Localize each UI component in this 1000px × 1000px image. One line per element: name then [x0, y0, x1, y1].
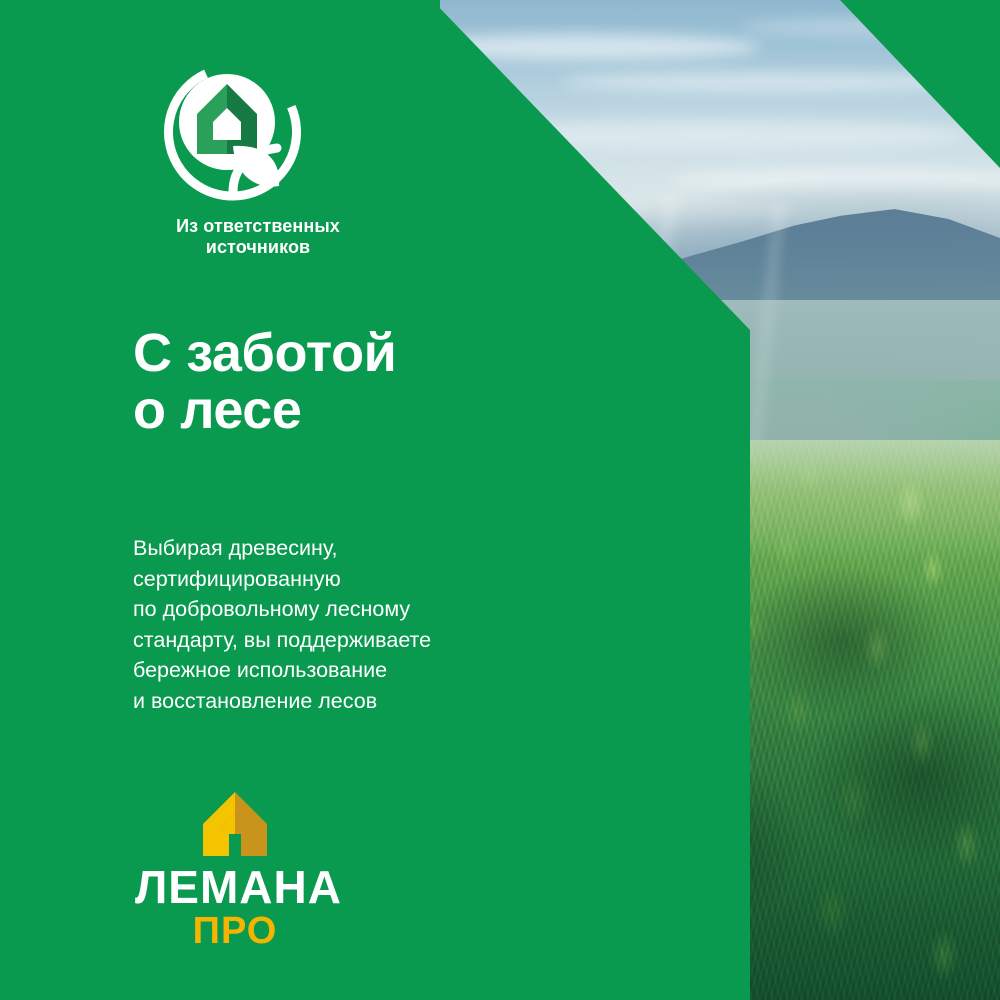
body-text: Выбирая древесину, сертифицированную по …	[133, 533, 431, 716]
page-title: С заботой о лесе	[133, 325, 396, 439]
lemana-house-icon	[199, 790, 271, 858]
certification-badge: Из ответственных источников	[133, 62, 463, 258]
brand-lockup: ЛЕМАНА ПРО	[135, 790, 335, 950]
house-leaf-circle-logo	[163, 62, 303, 202]
leaf-icon	[233, 146, 279, 192]
poster-content: Из ответственных источников С заботой о …	[0, 0, 1000, 1000]
poster-canvas: Из ответственных источников С заботой о …	[0, 0, 1000, 1000]
brand-sub: ПРО	[135, 912, 335, 950]
brand-name: ЛЕМАНА	[135, 864, 335, 910]
badge-caption: Из ответственных источников	[133, 216, 383, 258]
